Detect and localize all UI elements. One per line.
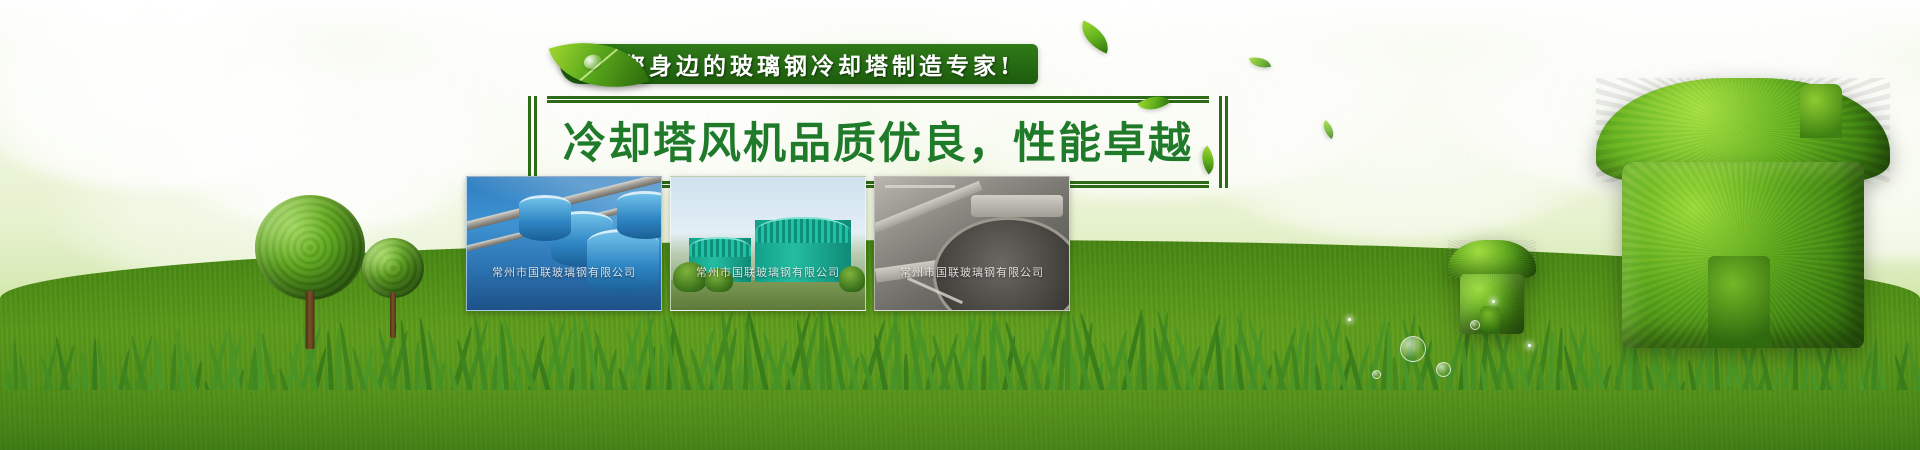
promo-banner: 您身边的玻璃钢冷却塔制造专家! 冷却塔风机品质优良，性能卓越 常州市国联玻璃钢有… <box>0 0 1920 450</box>
frp-tank <box>519 195 571 241</box>
fan-deck <box>971 195 1063 217</box>
water-drop-icon <box>582 52 603 71</box>
bubble-icon <box>1400 336 1426 362</box>
rule-top <box>547 96 1209 103</box>
bubble-icon <box>1372 370 1381 379</box>
house-door <box>1480 306 1500 334</box>
house-chimney <box>1800 84 1842 138</box>
grass-house-icon <box>1446 240 1538 334</box>
product-photo-strip: 常州市国联玻璃钢有限公司 常州市国联玻璃钢有限公司 常州市国联玻璃钢有限公司 <box>466 176 1070 311</box>
headline-text: 冷却塔风机品质优良，性能卓越 <box>547 103 1209 181</box>
grass-house-icon <box>1588 78 1898 348</box>
product-photo-1[interactable]: 常州市国联玻璃钢有限公司 <box>466 176 662 311</box>
frp-tank <box>617 191 662 239</box>
house-door <box>1708 256 1770 348</box>
bubble-icon <box>1436 362 1451 377</box>
tower-fan-hood <box>689 237 751 257</box>
tree-trunk <box>306 291 315 349</box>
bubble-icon <box>1470 320 1480 330</box>
hill-shading <box>0 330 1920 450</box>
product-photo-2[interactable]: 常州市国联玻璃钢有限公司 <box>670 176 866 311</box>
tower-fan-hood <box>755 217 851 243</box>
tagline-text: 您身边的玻璃钢冷却塔制造专家! <box>622 47 1014 81</box>
tree-icon <box>362 238 424 338</box>
product-photo-3[interactable]: 常州市国联玻璃钢有限公司 <box>874 176 1070 311</box>
photo-watermark: 常州市国联玻璃钢有限公司 <box>875 264 1069 280</box>
tree-crown <box>255 195 365 300</box>
headline-block: 冷却塔风机品质优良，性能卓越 <box>518 96 1238 188</box>
photo-watermark: 常州市国联玻璃钢有限公司 <box>671 264 865 280</box>
rule-right <box>1219 96 1228 188</box>
sparkle-icon <box>1348 318 1351 321</box>
rule-left <box>528 96 537 188</box>
photo-watermark: 常州市国联玻璃钢有限公司 <box>467 264 661 280</box>
house-roof <box>1448 240 1536 278</box>
tree-icon <box>255 195 365 345</box>
sparkle-icon <box>1528 344 1531 347</box>
handrail <box>885 185 955 188</box>
tree-trunk <box>390 292 396 338</box>
tree-crown <box>362 238 424 298</box>
headline-box: 冷却塔风机品质优良，性能卓越 <box>547 96 1209 188</box>
sparkle-icon <box>1492 300 1495 303</box>
